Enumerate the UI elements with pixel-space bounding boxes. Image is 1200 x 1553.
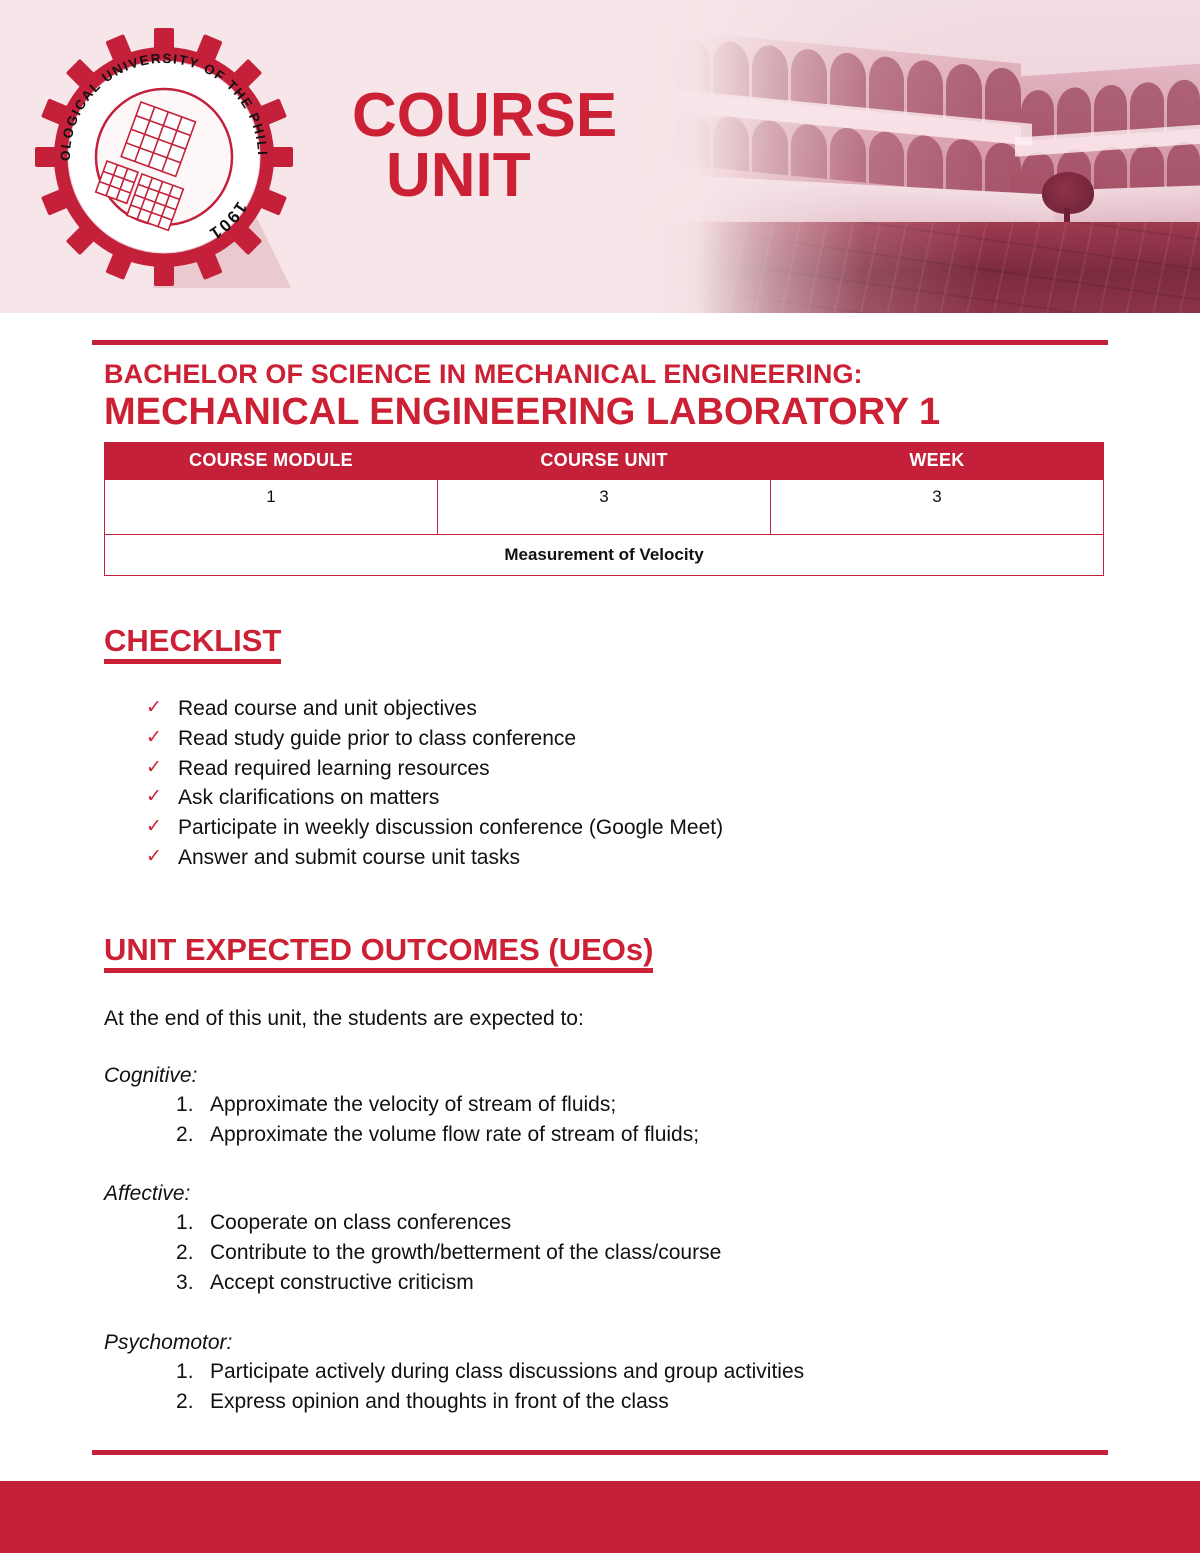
list-item: ✓ Ask clarifications on matters bbox=[146, 783, 1104, 813]
value-week: 3 bbox=[771, 479, 1104, 534]
list-item: ✓ Read required learning resources bbox=[146, 754, 1104, 784]
university-building-photo bbox=[640, 0, 1200, 313]
unit-expected-outcomes-section: UNIT EXPECTED OUTCOMES (UEOs) At the end… bbox=[104, 933, 1104, 1417]
checklist-section: CHECKLIST ✓ Read course and unit objecti… bbox=[104, 624, 1104, 873]
value-course-unit: 3 bbox=[438, 479, 771, 534]
document-page: BACHELOR OF SCIENCE IN MECHANICAL ENGINE… bbox=[0, 313, 1200, 1553]
checklist-item-label: Participate in weekly discussion confere… bbox=[178, 816, 723, 839]
checklist-item-label: Read required learning resources bbox=[178, 757, 490, 780]
header-banner: TECHNOLOGICAL UNIVERSITY OF THE PHILIPPI… bbox=[0, 0, 1200, 313]
header-course-module: COURSE MODULE bbox=[105, 442, 438, 479]
check-icon: ✓ bbox=[146, 754, 162, 783]
checklist-item-label: Answer and submit course unit tasks bbox=[178, 846, 520, 869]
header-week: WEEK bbox=[771, 442, 1104, 479]
ueos-list-affective: Cooperate on class conferences Contribut… bbox=[104, 1208, 1104, 1297]
ueos-group-label-cognitive: Cognitive: bbox=[104, 1064, 1104, 1088]
wordmark-line-2: UNIT bbox=[386, 146, 617, 206]
checklist-heading: CHECKLIST bbox=[104, 624, 281, 664]
list-item: ✓ Participate in weekly discussion confe… bbox=[146, 813, 1104, 843]
list-item: Participate actively during class discus… bbox=[176, 1357, 1104, 1387]
top-divider-rule bbox=[92, 340, 1108, 345]
check-icon: ✓ bbox=[146, 783, 162, 812]
list-item: Approximate the velocity of stream of fl… bbox=[176, 1090, 1104, 1120]
ueos-heading: UNIT EXPECTED OUTCOMES (UEOs) bbox=[104, 933, 653, 973]
list-item: Express opinion and thoughts in front of… bbox=[176, 1387, 1104, 1417]
list-item: Approximate the volume flow rate of stre… bbox=[176, 1120, 1104, 1150]
checklist-item-label: Read study guide prior to class conferen… bbox=[178, 727, 576, 750]
table-value-row: 1 3 3 bbox=[105, 479, 1104, 534]
check-icon: ✓ bbox=[146, 694, 162, 723]
document-content: BACHELOR OF SCIENCE IN MECHANICAL ENGINE… bbox=[104, 359, 1104, 1417]
list-item: Cooperate on class conferences bbox=[176, 1208, 1104, 1238]
list-item: ✓ Read course and unit objectives bbox=[146, 694, 1104, 724]
check-icon: ✓ bbox=[146, 843, 162, 872]
ueos-group-label-psychomotor: Psychomotor: bbox=[104, 1331, 1104, 1355]
table-header-row: COURSE MODULE COURSE UNIT WEEK bbox=[105, 442, 1104, 479]
value-course-module: 1 bbox=[105, 479, 438, 534]
ueos-lead-text: At the end of this unit, the students ar… bbox=[104, 1007, 1104, 1031]
wordmark-line-1: COURSE bbox=[352, 86, 617, 146]
ueos-group-label-affective: Affective: bbox=[104, 1182, 1104, 1206]
check-icon: ✓ bbox=[146, 813, 162, 842]
bottom-divider-rule bbox=[92, 1450, 1108, 1455]
list-item: Accept constructive criticism bbox=[176, 1268, 1104, 1298]
header-course-unit: COURSE UNIT bbox=[438, 442, 771, 479]
list-item: Contribute to the growth/betterment of t… bbox=[176, 1238, 1104, 1268]
footer-bar bbox=[0, 1481, 1200, 1553]
ueos-list-psychomotor: Participate actively during class discus… bbox=[104, 1357, 1104, 1417]
course-unit-wordmark: COURSE UNIT bbox=[352, 86, 617, 205]
checklist-items: ✓ Read course and unit objectives ✓ Read… bbox=[104, 694, 1104, 873]
check-icon: ✓ bbox=[146, 724, 162, 753]
program-title: BACHELOR OF SCIENCE IN MECHANICAL ENGINE… bbox=[104, 359, 1104, 389]
checklist-item-label: Read course and unit objectives bbox=[178, 697, 477, 720]
course-info-table: COURSE MODULE COURSE UNIT WEEK 1 3 3 Mea… bbox=[104, 442, 1104, 576]
course-title: MECHANICAL ENGINEERING LABORATORY 1 bbox=[104, 391, 1104, 434]
checklist-item-label: Ask clarifications on matters bbox=[178, 786, 439, 809]
table-subject-row: Measurement of Velocity bbox=[105, 534, 1104, 575]
tup-seal-logo: TECHNOLOGICAL UNIVERSITY OF THE PHILIPPI… bbox=[33, 26, 295, 288]
value-subject: Measurement of Velocity bbox=[105, 534, 1104, 575]
list-item: ✓ Read study guide prior to class confer… bbox=[146, 724, 1104, 754]
ueos-list-cognitive: Approximate the velocity of stream of fl… bbox=[104, 1090, 1104, 1150]
list-item: ✓ Answer and submit course unit tasks bbox=[146, 843, 1104, 873]
